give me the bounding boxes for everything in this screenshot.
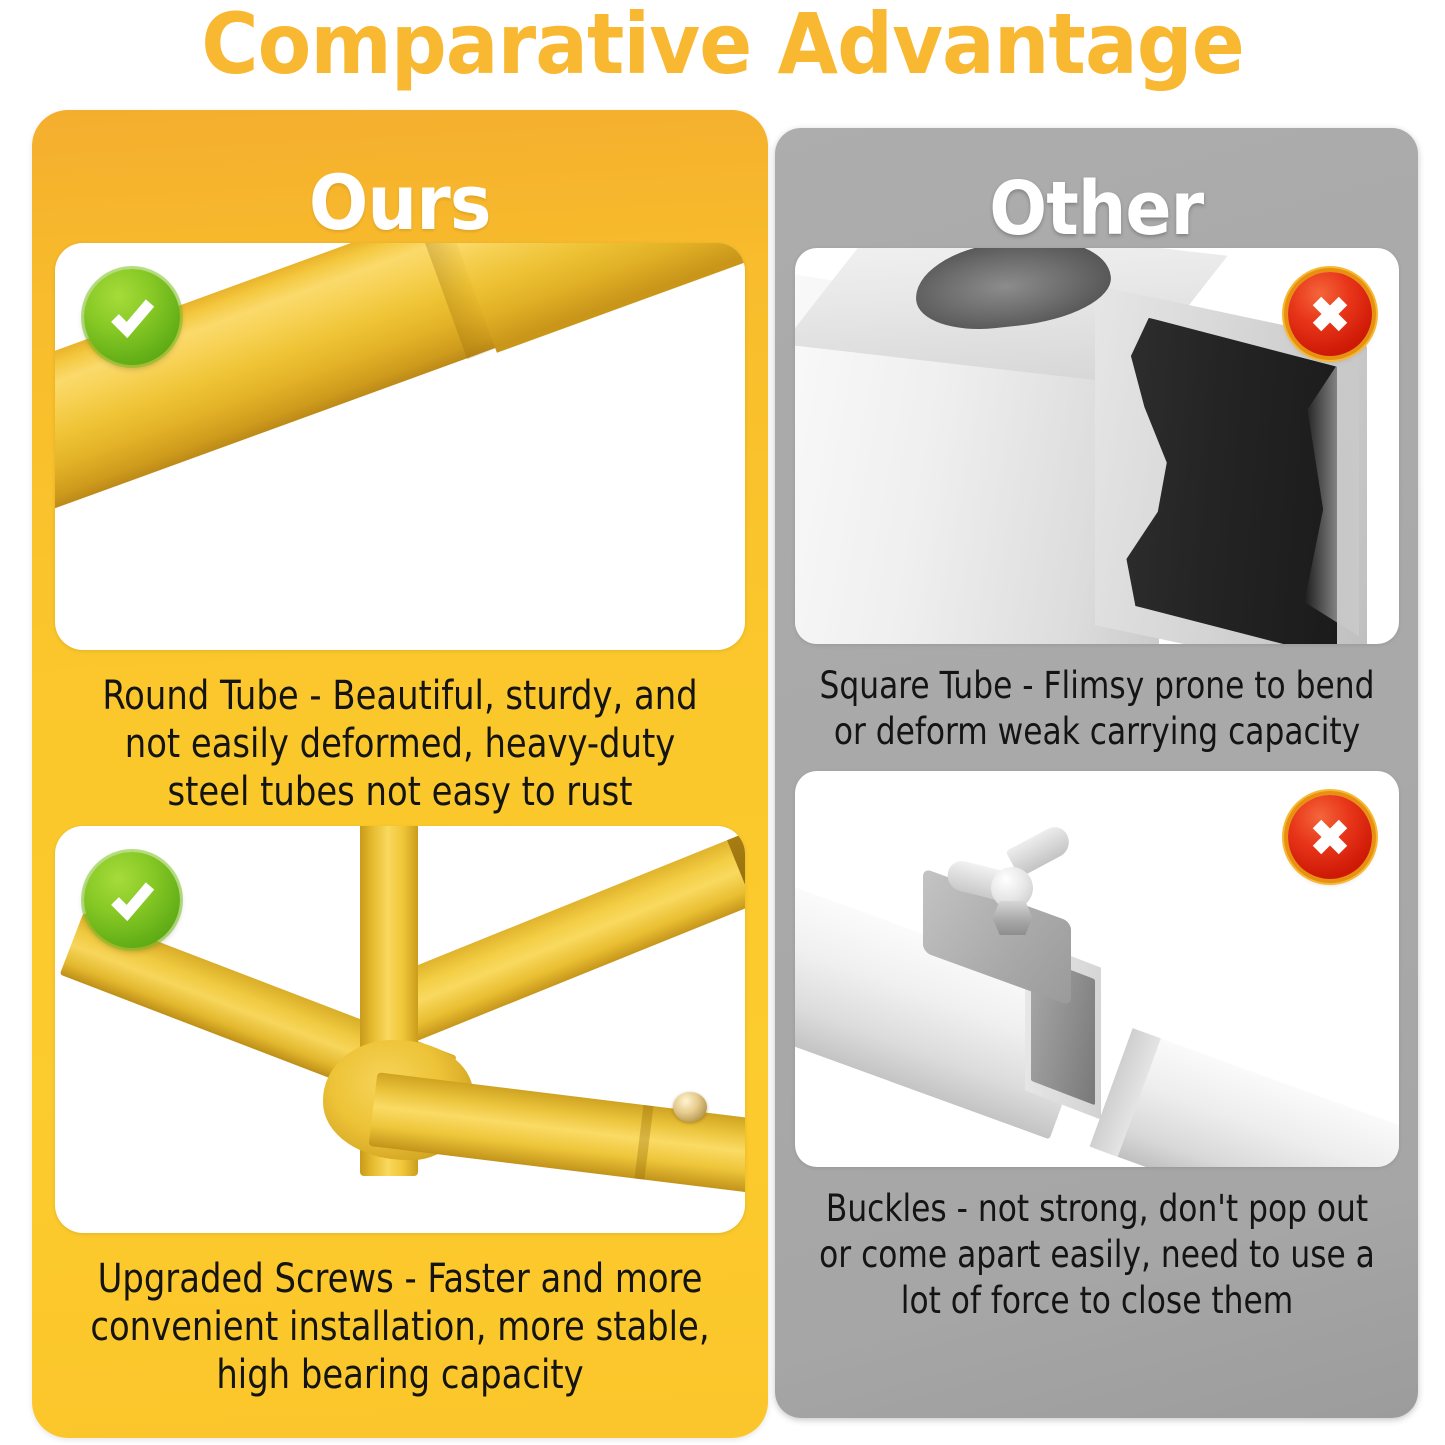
ours-caption-round-tube: Round Tube - Beautiful, sturdy, and not … (90, 672, 710, 816)
ours-panel-heading: Ours (309, 163, 491, 243)
page-title: Comparative Advantage (51, 0, 1395, 92)
other-photo-card-square-tube (795, 248, 1399, 644)
wing-nut-bolt (993, 901, 1033, 935)
green-check-badge-icon (84, 269, 180, 365)
green-check-badge-icon (84, 852, 180, 948)
other-caption-square-tube: Square Tube - Flimsy prone to bend or de… (815, 663, 1379, 755)
red-x-badge-icon (1288, 272, 1372, 356)
other-caption-buckles: Buckles - not strong, don't pop out or c… (815, 1186, 1379, 1324)
tube-coupling-ring (634, 1105, 653, 1180)
red-x-badge-icon (1288, 795, 1372, 879)
other-photo-card-buckles (795, 771, 1399, 1167)
ours-photo-card-round-tube (55, 243, 745, 650)
brass-screw-icon (673, 1092, 707, 1122)
ours-caption-upgraded-screws: Upgraded Screws - Faster and more conven… (90, 1255, 710, 1399)
gray-square-tube-right (1091, 1029, 1399, 1167)
other-panel-heading: Other (989, 170, 1203, 248)
gold-tube-horizontal-leg (368, 1072, 745, 1197)
ours-photo-card-upgraded-screws (55, 826, 745, 1233)
other-panel: Other Square Tube - Flimsy prone to bend… (775, 128, 1418, 1418)
wing-nut-icon (945, 839, 1073, 935)
ours-panel: Ours Round Tube - Beautiful, sturdy, and… (32, 110, 768, 1438)
